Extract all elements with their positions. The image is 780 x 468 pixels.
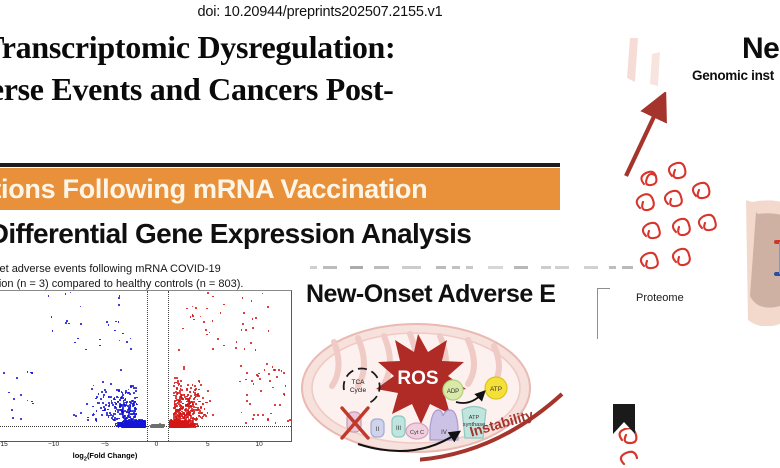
volcano-caption-line-2: accination (n = 3) compared to healthy c… bbox=[0, 277, 294, 292]
volcano-point bbox=[130, 338, 132, 340]
volcano-point bbox=[169, 425, 171, 427]
volcano-x-tick: −15 bbox=[0, 441, 8, 448]
volcano-point bbox=[285, 385, 287, 387]
volcano-point bbox=[274, 404, 276, 406]
volcano-point bbox=[205, 329, 207, 331]
volcano-point bbox=[264, 369, 266, 371]
volcano-point bbox=[113, 398, 115, 400]
volcano-point bbox=[283, 372, 285, 374]
volcano-point bbox=[252, 318, 254, 320]
volcano-point bbox=[129, 393, 131, 395]
title-line-2: nset Adverse Events and Cancers Post- bbox=[0, 68, 674, 110]
volcano-point bbox=[194, 423, 196, 425]
volcano-point bbox=[102, 381, 104, 383]
down-chevron-marker-icon bbox=[613, 404, 635, 434]
volcano-point bbox=[269, 380, 271, 382]
volcano-x-tick: 5 bbox=[206, 441, 210, 448]
cell-nucleus-dna-icon bbox=[718, 196, 780, 326]
volcano-point bbox=[92, 406, 94, 408]
truncated-text-fragment bbox=[466, 266, 473, 269]
volcano-point bbox=[95, 398, 97, 400]
volcano-point bbox=[179, 392, 181, 394]
volcano-point bbox=[281, 370, 283, 372]
volcano-point bbox=[183, 368, 185, 370]
volcano-point bbox=[135, 415, 137, 417]
volcano-point bbox=[257, 414, 259, 416]
volcano-point bbox=[119, 399, 121, 401]
volcano-point bbox=[118, 390, 120, 392]
volcano-point bbox=[178, 349, 180, 351]
svg-text:III: III bbox=[396, 426, 401, 432]
volcano-point bbox=[108, 416, 110, 418]
orange-banner: erations Following mRNA Vaccination bbox=[0, 168, 560, 210]
volcano-point bbox=[110, 414, 112, 416]
volcano-point bbox=[104, 409, 106, 411]
proteome-label: Proteome bbox=[636, 292, 684, 304]
volcano-point bbox=[186, 308, 188, 310]
volcano-point bbox=[103, 396, 105, 398]
volcano-point bbox=[239, 381, 241, 383]
volcano-point bbox=[173, 385, 175, 387]
proteome-protein-cluster-icon bbox=[632, 160, 718, 290]
volcano-point bbox=[195, 403, 197, 405]
svg-text:II: II bbox=[376, 427, 380, 433]
volcano-point bbox=[194, 389, 196, 391]
volcano-point bbox=[204, 408, 206, 410]
volcano-point bbox=[70, 292, 72, 294]
volcano-point bbox=[106, 321, 108, 323]
volcano-point bbox=[86, 403, 88, 405]
volcano-point bbox=[125, 423, 127, 425]
volcano-point bbox=[75, 415, 77, 417]
volcano-point bbox=[118, 418, 120, 420]
banner-top-rule bbox=[0, 163, 560, 167]
etc-complex-2: II bbox=[371, 419, 384, 437]
volcano-point bbox=[65, 293, 67, 295]
volcano-point bbox=[27, 371, 29, 373]
volcano-point bbox=[155, 425, 157, 427]
volcano-point bbox=[201, 412, 203, 414]
volcano-point bbox=[8, 392, 10, 394]
volcano-point bbox=[100, 407, 102, 409]
volcano-point bbox=[99, 339, 101, 341]
volcano-point bbox=[80, 323, 82, 325]
volcano-point bbox=[134, 407, 136, 409]
volcano-point bbox=[141, 425, 143, 427]
volcano-point bbox=[267, 306, 269, 308]
volcano-point bbox=[121, 411, 123, 413]
volcano-point bbox=[205, 415, 207, 417]
volcano-point bbox=[179, 416, 181, 418]
volcano-point bbox=[181, 389, 183, 391]
volcano-point bbox=[244, 348, 246, 350]
xlabel-rest: (Fold Change) bbox=[87, 451, 137, 460]
volcano-point bbox=[114, 419, 116, 421]
fold-change-threshold-right bbox=[168, 291, 169, 441]
truncated-text-fragment bbox=[402, 266, 420, 269]
volcano-point bbox=[252, 418, 254, 420]
partial-protein-squiggle-icon bbox=[616, 428, 650, 468]
volcano-point bbox=[180, 385, 182, 387]
volcano-point bbox=[132, 413, 134, 415]
volcano-point bbox=[115, 410, 117, 412]
volcano-point bbox=[96, 396, 98, 398]
volcano-point bbox=[246, 372, 248, 374]
volcano-point bbox=[140, 421, 142, 423]
banner-label: erations Following mRNA Vaccination bbox=[0, 174, 427, 205]
volcano-point bbox=[183, 417, 185, 419]
volcano-point bbox=[136, 424, 138, 426]
volcano-point bbox=[257, 375, 259, 377]
volcano-caption-line-1: ew-onset adverse events following mRNA C… bbox=[0, 262, 294, 277]
volcano-point bbox=[130, 348, 132, 350]
volcano-point bbox=[220, 312, 222, 314]
volcano-point bbox=[260, 390, 262, 392]
volcano-point bbox=[207, 292, 209, 294]
volcano-point bbox=[99, 345, 101, 347]
volcano-point bbox=[177, 392, 179, 394]
volcano-point bbox=[173, 392, 175, 394]
volcano-point bbox=[91, 388, 93, 390]
volcano-point bbox=[118, 304, 120, 306]
decorative-pink-shapes bbox=[618, 36, 678, 98]
volcano-point bbox=[180, 380, 182, 382]
volcano-point bbox=[193, 319, 195, 321]
volcano-point bbox=[207, 412, 209, 414]
volcano-point bbox=[176, 405, 178, 407]
volcano-point bbox=[279, 404, 281, 406]
volcano-point bbox=[108, 324, 110, 326]
page-title: nes and Transcriptomic Dysregulation: ns… bbox=[0, 26, 674, 110]
volcano-point bbox=[126, 341, 128, 343]
volcano-point bbox=[68, 323, 70, 325]
volcano-point bbox=[212, 348, 214, 350]
right-section-heading: Ne bbox=[742, 32, 779, 66]
volcano-x-tick: 10 bbox=[256, 441, 263, 448]
volcano-point bbox=[266, 363, 268, 365]
tca-label-line2: Cycle bbox=[350, 387, 367, 394]
volcano-point bbox=[130, 426, 132, 428]
truncated-text-fragment bbox=[555, 266, 569, 269]
doi-line: doi: 10.20944/preprints202507.2155.v1 bbox=[0, 4, 640, 20]
truncated-text-fragment bbox=[488, 266, 504, 269]
volcano-point bbox=[122, 333, 124, 335]
volcano-point bbox=[242, 297, 244, 299]
volcano-point bbox=[183, 412, 185, 414]
volcano-point bbox=[87, 417, 89, 419]
volcano-point bbox=[209, 332, 211, 334]
adverse-events-heading: New-Onset Adverse E bbox=[306, 280, 555, 309]
volcano-point bbox=[205, 402, 207, 404]
volcano-point bbox=[135, 390, 137, 392]
volcano-point bbox=[246, 400, 248, 402]
volcano-point bbox=[123, 420, 125, 422]
volcano-point bbox=[20, 418, 22, 420]
volcano-point bbox=[241, 329, 243, 331]
volcano-point bbox=[48, 295, 50, 297]
volcano-point bbox=[109, 412, 111, 414]
volcano-point bbox=[110, 396, 112, 398]
volcano-point bbox=[182, 328, 184, 330]
volcano-point bbox=[275, 422, 277, 424]
volcano-point bbox=[192, 314, 194, 316]
volcano-point bbox=[74, 342, 76, 344]
truncated-text-fragment bbox=[584, 266, 599, 269]
volcano-point bbox=[32, 403, 34, 405]
volcano-point bbox=[284, 394, 286, 396]
volcano-point bbox=[119, 340, 121, 342]
volcano-point bbox=[182, 403, 184, 405]
volcano-point bbox=[87, 419, 89, 421]
truncated-text-fragment bbox=[374, 266, 389, 269]
volcano-point bbox=[268, 373, 270, 375]
dge-section-heading: Differential Gene Expression Analysis bbox=[0, 218, 580, 250]
volcano-point bbox=[197, 409, 199, 411]
volcano-point bbox=[110, 383, 112, 385]
volcano-point bbox=[243, 312, 245, 314]
volcano-point bbox=[124, 399, 126, 401]
xlabel-base: log bbox=[73, 451, 84, 460]
volcano-point bbox=[236, 341, 238, 343]
volcano-point bbox=[133, 404, 135, 406]
volcano-point bbox=[135, 387, 137, 389]
volcano-point bbox=[109, 404, 111, 406]
volcano-point bbox=[252, 327, 254, 329]
volcano-point bbox=[192, 420, 194, 422]
volcano-point bbox=[174, 404, 176, 406]
volcano-point bbox=[203, 321, 205, 323]
volcano-point bbox=[255, 317, 257, 319]
volcano-point bbox=[186, 404, 188, 406]
volcano-point bbox=[200, 316, 202, 318]
volcano-point bbox=[11, 409, 13, 411]
volcano-point bbox=[187, 394, 189, 396]
volcano-point bbox=[200, 384, 202, 386]
tca-label-line1: TCA bbox=[352, 379, 366, 386]
volcano-point bbox=[122, 426, 124, 428]
volcano-point bbox=[114, 413, 116, 415]
volcano-point bbox=[242, 323, 244, 325]
truncated-text-fragment bbox=[452, 266, 460, 269]
volcano-point bbox=[245, 422, 247, 424]
volcano-point bbox=[13, 398, 15, 400]
volcano-point bbox=[127, 409, 129, 411]
volcano-point bbox=[287, 420, 289, 422]
volcano-point bbox=[212, 414, 214, 416]
volcano-point bbox=[102, 402, 104, 404]
poster-canvas: doi: 10.20944/preprints202507.2155.v1 ne… bbox=[0, 0, 780, 464]
volcano-point bbox=[105, 404, 107, 406]
volcano-point bbox=[107, 409, 109, 411]
volcano-point bbox=[201, 417, 203, 419]
volcano-point bbox=[176, 388, 178, 390]
truncated-text-fragment bbox=[514, 266, 529, 269]
volcano-point bbox=[198, 401, 200, 403]
volcano-point bbox=[272, 366, 274, 368]
volcano-point bbox=[182, 399, 184, 401]
volcano-point bbox=[179, 408, 181, 410]
volcano-point bbox=[93, 385, 95, 387]
truncated-text-fragment bbox=[436, 266, 447, 269]
volcano-point bbox=[176, 377, 178, 379]
volcano-point bbox=[184, 409, 186, 411]
volcano-point bbox=[12, 417, 14, 419]
volcano-point bbox=[250, 342, 252, 344]
volcano-plot bbox=[0, 290, 292, 442]
volcano-point bbox=[206, 334, 208, 336]
volcano-point bbox=[212, 320, 214, 322]
fold-change-threshold-left bbox=[147, 291, 148, 441]
volcano-point bbox=[194, 385, 196, 387]
volcano-point bbox=[189, 397, 191, 399]
volcano-point bbox=[179, 425, 181, 427]
volcano-point bbox=[276, 376, 278, 378]
volcano-point bbox=[206, 308, 208, 310]
volcano-point bbox=[188, 419, 190, 421]
volcano-point bbox=[198, 389, 200, 391]
etc-complex-3: III bbox=[392, 416, 405, 437]
volcano-point bbox=[202, 397, 204, 399]
volcano-point bbox=[177, 415, 179, 417]
volcano-x-axis-label: log2(Fold Change) bbox=[0, 451, 290, 463]
volcano-point bbox=[262, 293, 264, 295]
volcano-point bbox=[259, 378, 261, 380]
volcano-point bbox=[101, 391, 103, 393]
volcano-point bbox=[100, 398, 102, 400]
volcano-point bbox=[268, 330, 270, 332]
volcano-point bbox=[192, 403, 194, 405]
volcano-point bbox=[52, 330, 54, 332]
panel-bracket bbox=[597, 288, 610, 339]
volcano-x-tick: −10 bbox=[48, 441, 59, 448]
volcano-point bbox=[193, 426, 195, 428]
banner-bar: erations Following mRNA Vaccination bbox=[0, 168, 560, 210]
volcano-point bbox=[16, 377, 18, 379]
volcano-point bbox=[175, 419, 177, 421]
volcano-point bbox=[251, 380, 253, 382]
volcano-point bbox=[105, 391, 107, 393]
volcano-point bbox=[27, 400, 29, 402]
volcano-point bbox=[245, 329, 247, 331]
volcano-point bbox=[267, 419, 269, 421]
volcano-point bbox=[123, 402, 125, 404]
volcano-point bbox=[119, 413, 121, 415]
volcano-point bbox=[190, 391, 192, 393]
volcano-point bbox=[235, 347, 237, 349]
volcano-point bbox=[132, 418, 134, 420]
volcano-point bbox=[98, 402, 100, 404]
volcano-point bbox=[173, 424, 175, 426]
volcano-point bbox=[212, 296, 214, 298]
volcano-point bbox=[151, 426, 153, 428]
volcano-point bbox=[198, 395, 200, 397]
volcano-point bbox=[241, 412, 243, 414]
volcano-point bbox=[20, 394, 22, 396]
volcano-point bbox=[289, 419, 291, 421]
volcano-point bbox=[273, 369, 275, 371]
volcano-point bbox=[209, 400, 211, 402]
volcano-point bbox=[253, 383, 255, 385]
volcano-point bbox=[3, 372, 5, 374]
volcano-point bbox=[251, 300, 253, 302]
volcano-point bbox=[187, 384, 189, 386]
volcano-point bbox=[245, 379, 247, 381]
volcano-point bbox=[217, 338, 219, 340]
volcano-point bbox=[195, 419, 197, 421]
volcano-point bbox=[115, 321, 117, 323]
truncated-text-fragment bbox=[323, 266, 337, 269]
volcano-point bbox=[223, 345, 225, 347]
volcano-point bbox=[128, 389, 130, 391]
volcano-point bbox=[120, 369, 122, 371]
volcano-point bbox=[103, 406, 105, 408]
volcano-x-tick: 0 bbox=[155, 441, 159, 448]
truncated-text-fragment bbox=[609, 266, 616, 269]
volcano-point bbox=[130, 420, 132, 422]
volcano-point bbox=[246, 394, 248, 396]
volcano-point bbox=[65, 322, 67, 324]
volcano-point bbox=[114, 330, 116, 332]
volcano-point bbox=[66, 320, 68, 322]
volcano-point bbox=[51, 316, 53, 318]
volcano-point bbox=[118, 425, 120, 427]
volcano-point bbox=[136, 397, 138, 399]
truncated-text-fragment bbox=[622, 266, 633, 269]
volcano-point bbox=[77, 338, 79, 340]
volcano-point bbox=[190, 387, 192, 389]
volcano-point bbox=[262, 414, 264, 416]
truncated-text-fragment bbox=[310, 266, 317, 269]
volcano-point bbox=[121, 397, 123, 399]
volcano-point bbox=[130, 386, 132, 388]
volcano-point bbox=[101, 414, 103, 416]
volcano-point bbox=[80, 412, 82, 414]
volcano-point bbox=[192, 306, 194, 308]
volcano-point bbox=[130, 402, 132, 404]
volcano-point bbox=[223, 304, 225, 306]
volcano-point bbox=[126, 417, 128, 419]
volcano-point bbox=[111, 400, 113, 402]
volcano-point bbox=[118, 321, 120, 323]
volcano-point bbox=[253, 414, 255, 416]
volcano-point bbox=[85, 349, 87, 351]
truncated-text-fragment bbox=[541, 266, 551, 269]
volcano-point bbox=[270, 413, 272, 415]
volcano-x-axis: log2(Fold Change) −20−15−10−50510 bbox=[0, 441, 290, 464]
volcano-point bbox=[96, 410, 98, 412]
volcano-point bbox=[240, 365, 242, 367]
volcano-point bbox=[249, 403, 251, 405]
volcano-point bbox=[255, 349, 257, 351]
volcano-point bbox=[80, 306, 82, 308]
volcano-point bbox=[196, 395, 198, 397]
volcano-point bbox=[200, 407, 202, 409]
volcano-point bbox=[173, 407, 175, 409]
volcano-point bbox=[103, 394, 105, 396]
volcano-caption: ew-onset adverse events following mRNA C… bbox=[0, 262, 294, 291]
red-curve-accent bbox=[420, 380, 620, 464]
volcano-point bbox=[98, 393, 100, 395]
title-line-1: nes and Transcriptomic Dysregulation: bbox=[0, 29, 395, 65]
volcano-point bbox=[181, 408, 183, 410]
volcano-point bbox=[132, 385, 134, 387]
truncated-text-row bbox=[306, 266, 636, 271]
volcano-point bbox=[177, 380, 179, 382]
volcano-point bbox=[195, 307, 197, 309]
volcano-point bbox=[185, 420, 187, 422]
volcano-point bbox=[122, 394, 124, 396]
volcano-x-tick: −5 bbox=[101, 441, 108, 448]
